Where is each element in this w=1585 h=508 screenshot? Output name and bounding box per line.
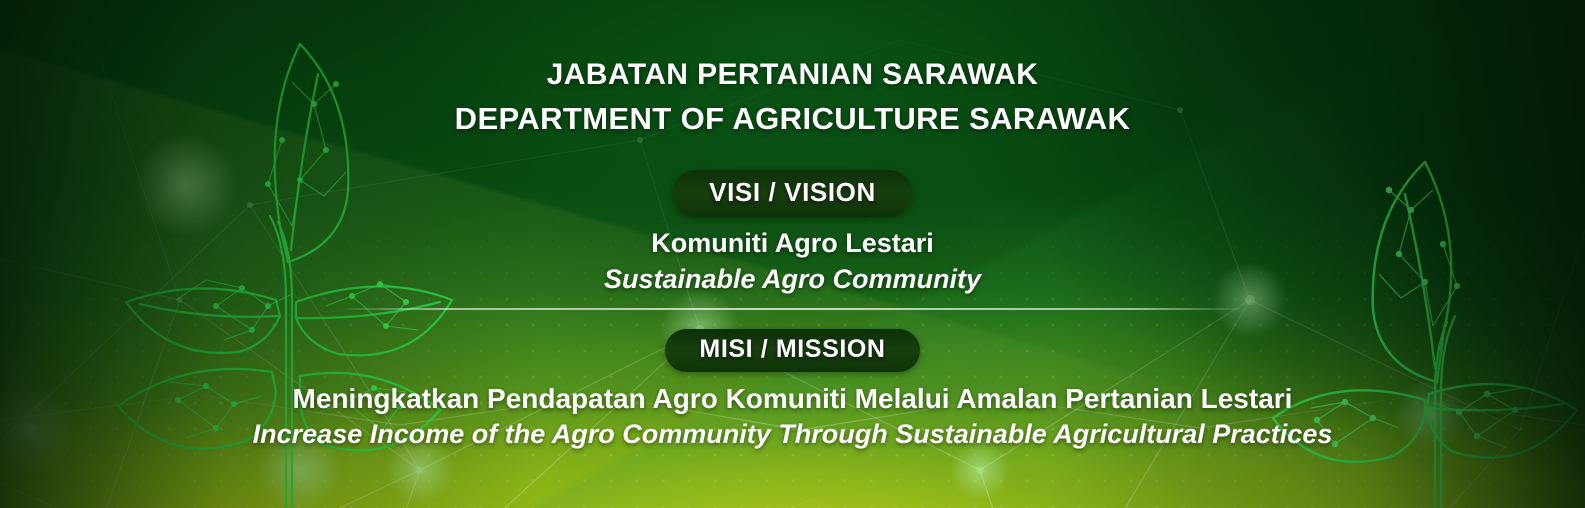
- vision-section: VISI / VISION Komuniti Agro Lestari Sust…: [0, 170, 1585, 295]
- vision-pill-label: VISI / VISION: [673, 170, 912, 217]
- mission-section: MISI / MISSION Meningkatkan Pendapatan A…: [0, 329, 1585, 450]
- vision-text-english: Sustainable Agro Community: [0, 264, 1585, 295]
- vision-text-malay: Komuniti Agro Lestari: [0, 228, 1585, 259]
- organisation-title-english: DEPARTMENT OF AGRICULTURE SARAWAK: [0, 97, 1585, 141]
- organisation-title-malay: JABATAN PERTANIAN SARAWAK: [0, 54, 1585, 97]
- section-divider: [345, 308, 1240, 310]
- vision-mission-banner: JABATAN PERTANIAN SARAWAK DEPARTMENT OF …: [0, 0, 1585, 508]
- organisation-title: JABATAN PERTANIAN SARAWAK DEPARTMENT OF …: [0, 54, 1585, 141]
- mission-pill-label: MISI / MISSION: [665, 329, 919, 372]
- banner-content: JABATAN PERTANIAN SARAWAK DEPARTMENT OF …: [0, 0, 1585, 508]
- mission-text-malay: Meningkatkan Pendapatan Agro Komuniti Me…: [0, 383, 1585, 415]
- mission-text-english: Increase Income of the Agro Community Th…: [0, 419, 1585, 450]
